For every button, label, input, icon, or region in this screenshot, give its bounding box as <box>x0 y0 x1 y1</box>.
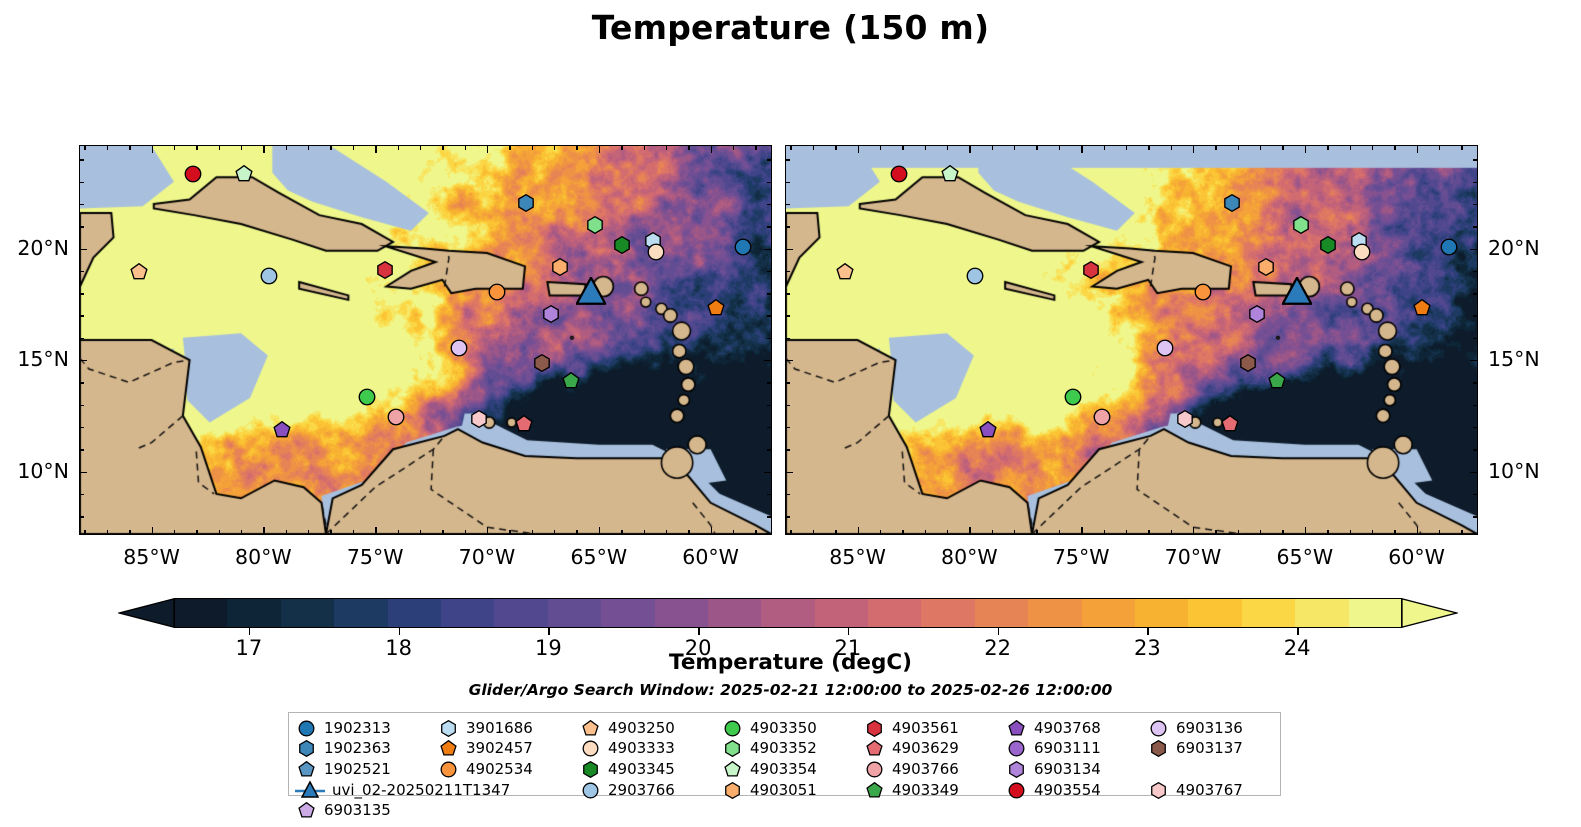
x-axis-tick-label: 65°W <box>1245 545 1365 569</box>
y-axis-tick-label-right: 10°N <box>1488 459 1540 483</box>
argo-float-marker[interactable] <box>358 388 376 406</box>
legend-label: 4902534 <box>466 762 533 777</box>
y-tick-minor <box>786 427 790 428</box>
argo-float-marker[interactable] <box>734 238 752 256</box>
x-tick-minor <box>790 530 791 534</box>
y-tick-minor <box>80 159 84 160</box>
x-tick-minor <box>1439 530 1440 534</box>
argo-float-marker[interactable] <box>1176 410 1194 428</box>
y-tick-minor <box>1473 494 1477 495</box>
y-tick-major <box>786 249 793 250</box>
legend-marker-swatch <box>863 780 885 800</box>
colorbar-tick <box>399 628 400 635</box>
legend-marker-swatch <box>437 718 459 738</box>
x-tick-minor-top <box>107 146 108 150</box>
x-tick-minor <box>509 530 510 534</box>
x-axis-tick-label: 75°W <box>1021 545 1141 569</box>
argo-float-marker[interactable] <box>470 410 488 428</box>
argo-float-marker[interactable] <box>450 339 468 357</box>
legend-label: 6903136 <box>1176 721 1243 736</box>
colorbar: 1718192021222324 <box>118 598 1458 628</box>
y-tick-minor <box>1473 427 1477 428</box>
x-tick-minor-top <box>353 146 354 150</box>
y-tick-minor <box>80 382 84 383</box>
legend-item[interactable]: 4903354 <box>721 759 863 780</box>
argo-float-marker[interactable] <box>273 421 291 439</box>
legend-label: 6903111 <box>1034 741 1101 756</box>
temperature-raster <box>786 146 1477 534</box>
legend-item[interactable]: 6903137 <box>1147 739 1289 760</box>
legend-label: 6903135 <box>324 803 391 818</box>
x-tick-minor <box>1350 530 1351 534</box>
y-tick-minor <box>767 516 771 517</box>
legend-item[interactable]: 4903345 <box>579 759 721 780</box>
x-axis-tick-label: 65°W <box>539 545 659 569</box>
x-tick-minor-top <box>1260 146 1261 150</box>
x-tick-minor <box>1059 530 1060 534</box>
y-tick-minor <box>767 182 771 183</box>
argo-float-marker[interactable] <box>979 421 997 439</box>
legend-item[interactable]: 4903768 <box>1005 718 1147 739</box>
legend-label: 1902313 <box>324 721 391 736</box>
x-tick-minor <box>1394 530 1395 534</box>
x-tick-major-top <box>1417 146 1418 153</box>
figure-title: Temperature (150 m) <box>0 8 1581 47</box>
argo-float-marker[interactable] <box>1257 258 1275 276</box>
y-tick-minor <box>80 182 84 183</box>
y-tick-minor <box>786 204 790 205</box>
legend-label: 4903768 <box>1034 721 1101 736</box>
colorbar-tick <box>698 628 699 635</box>
argo-float-marker[interactable] <box>235 165 253 183</box>
x-tick-minor-top <box>1215 146 1216 150</box>
x-tick-minor-top <box>1036 146 1037 150</box>
glider-marker[interactable] <box>576 277 606 307</box>
legend-label: 6903137 <box>1176 741 1243 756</box>
y-tick-minor <box>80 449 84 450</box>
argo-float-marker[interactable] <box>1413 299 1431 317</box>
x-tick-minor <box>1148 530 1149 534</box>
x-axis-tick-label: 60°W <box>1357 545 1477 569</box>
x-tick-minor-top <box>554 146 555 150</box>
legend-item[interactable]: 1902521 <box>295 759 437 780</box>
x-tick-major-top <box>375 146 376 153</box>
x-tick-minor-top <box>196 146 197 150</box>
temperature-field-rtofs <box>80 146 771 534</box>
y-tick-minor <box>767 338 771 339</box>
argo-float-marker[interactable] <box>1221 415 1239 433</box>
argo-float-marker[interactable] <box>562 372 580 390</box>
legend-label: 6903134 <box>1034 762 1101 777</box>
legend-item[interactable]: 3902457 <box>437 739 579 760</box>
y-tick-major <box>80 360 87 361</box>
y-tick-minor <box>1473 182 1477 183</box>
legend-item[interactable]: 6903134 <box>1005 759 1147 780</box>
x-tick-major-top <box>263 146 264 153</box>
x-tick-minor-top <box>1461 146 1462 150</box>
legend-item[interactable]: 4903561 <box>863 718 1005 739</box>
argo-float-marker[interactable] <box>1239 354 1257 372</box>
x-tick-minor <box>621 530 622 534</box>
x-tick-minor <box>644 530 645 534</box>
y-tick-minor <box>80 494 84 495</box>
argo-float-marker[interactable] <box>551 258 569 276</box>
argo-float-marker[interactable] <box>836 263 854 281</box>
argo-float-marker[interactable] <box>1093 408 1111 426</box>
x-tick-minor <box>219 530 220 534</box>
legend-label: uvi_02-20250211T1347 <box>332 783 510 798</box>
y-tick-major <box>1470 360 1477 361</box>
argo-float-marker[interactable] <box>890 165 908 183</box>
legend-marker-swatch <box>1005 759 1027 779</box>
legend-label: 1902363 <box>324 741 391 756</box>
legend-marker-swatch <box>295 759 317 779</box>
y-tick-minor <box>1473 226 1477 227</box>
argo-float-marker[interactable] <box>1194 283 1212 301</box>
x-tick-minor <box>835 530 836 534</box>
x-tick-minor <box>1282 530 1283 534</box>
y-tick-minor <box>767 405 771 406</box>
x-tick-minor <box>84 530 85 534</box>
y-tick-minor <box>1473 449 1477 450</box>
x-axis-tick-label: 75°W <box>315 545 435 569</box>
glider-marker[interactable] <box>1282 277 1312 307</box>
y-tick-minor <box>1473 204 1477 205</box>
x-tick-minor <box>398 530 399 534</box>
x-tick-minor <box>1238 530 1239 534</box>
legend-item[interactable]: 4903554 <box>1005 780 1147 801</box>
y-tick-minor <box>786 516 790 517</box>
y-tick-minor <box>786 494 790 495</box>
x-tick-minor-top <box>880 146 881 150</box>
legend-marker-swatch <box>1005 718 1027 738</box>
x-tick-minor <box>1260 530 1261 534</box>
x-tick-major <box>858 527 859 534</box>
y-tick-minor <box>786 226 790 227</box>
x-tick-minor-top <box>1439 146 1440 150</box>
x-tick-minor <box>688 530 689 534</box>
legend-item[interactable]: 4902534 <box>437 759 579 780</box>
x-tick-major <box>375 527 376 534</box>
x-tick-minor-top <box>666 146 667 150</box>
x-axis-tick-label: 70°W <box>1133 545 1253 569</box>
argo-float-marker[interactable] <box>517 194 535 212</box>
x-tick-minor <box>353 530 354 534</box>
legend-label: 4903766 <box>892 762 959 777</box>
y-tick-minor <box>786 338 790 339</box>
platform-legend[interactable]: 1902313390168649032504903350490356149037… <box>288 712 1281 796</box>
colorbar-tick <box>998 628 999 635</box>
x-tick-minor <box>880 530 881 534</box>
colorbar-extend-min <box>118 598 174 628</box>
argo-float-marker[interactable] <box>1268 372 1286 390</box>
y-axis-tick-label-right: 15°N <box>1488 347 1540 371</box>
legend-item[interactable]: 4903333 <box>579 739 721 760</box>
argo-float-marker[interactable] <box>542 305 560 323</box>
x-tick-minor-top <box>1238 146 1239 150</box>
y-tick-major <box>764 249 771 250</box>
x-tick-minor-top <box>420 146 421 150</box>
y-tick-minor <box>767 226 771 227</box>
y-tick-major <box>764 472 771 473</box>
legend-item[interactable]: 6903135 <box>295 800 437 821</box>
legend-marker-swatch <box>721 739 743 759</box>
x-axis-tick-label: 85°W <box>798 545 918 569</box>
legend-marker-swatch <box>1147 780 1169 800</box>
y-tick-minor <box>786 182 790 183</box>
argo-float-marker[interactable] <box>1064 388 1082 406</box>
argo-float-marker[interactable] <box>1292 216 1310 234</box>
legend-item[interactable]: 6903111 <box>1005 739 1147 760</box>
y-tick-minor <box>767 382 771 383</box>
legend-item[interactable]: 4903350 <box>721 718 863 739</box>
y-tick-minor <box>767 494 771 495</box>
legend-marker-swatch <box>1147 739 1169 759</box>
legend-marker-swatch <box>721 759 743 779</box>
x-tick-major <box>487 527 488 534</box>
x-axis-tick-label: 80°W <box>909 545 1029 569</box>
y-tick-major <box>80 249 87 250</box>
x-tick-major <box>969 527 970 534</box>
legend-item[interactable]: 1902313 <box>295 718 437 739</box>
argo-float-marker[interactable] <box>647 243 665 261</box>
x-tick-major <box>1193 527 1194 534</box>
legend-item[interactable]: 4903629 <box>863 739 1005 760</box>
map-panel-cmems[interactable]: CMEMS - 2025-02-26 12:00:00 <box>785 145 1478 535</box>
legend-label: 3902457 <box>466 741 533 756</box>
colorbar-extend-max <box>1402 598 1458 628</box>
y-tick-minor <box>80 516 84 517</box>
x-tick-minor <box>813 530 814 534</box>
y-tick-minor <box>767 204 771 205</box>
y-tick-minor <box>80 226 84 227</box>
legend-marker-swatch <box>579 759 601 779</box>
argo-float-marker[interactable] <box>586 216 604 234</box>
x-tick-major-top <box>858 146 859 153</box>
x-tick-minor-top <box>84 146 85 150</box>
x-tick-minor <box>420 530 421 534</box>
x-tick-minor-top <box>398 146 399 150</box>
legend-item[interactable]: 4903352 <box>721 739 863 760</box>
argo-float-marker[interactable] <box>130 263 148 281</box>
x-tick-minor-top <box>1148 146 1149 150</box>
legend-label: 4903629 <box>892 741 959 756</box>
y-tick-minor <box>80 315 84 316</box>
x-tick-minor-top <box>1014 146 1015 150</box>
x-tick-minor <box>576 530 577 534</box>
x-tick-minor <box>1372 530 1373 534</box>
legend-marker-swatch <box>721 780 743 800</box>
y-tick-minor <box>1473 293 1477 294</box>
y-tick-minor <box>1473 338 1477 339</box>
y-tick-minor <box>767 293 771 294</box>
argo-float-marker[interactable] <box>533 354 551 372</box>
y-tick-minor <box>80 338 84 339</box>
legend-label: 4903767 <box>1176 783 1243 798</box>
legend-item[interactable]: 6903136 <box>1147 718 1289 739</box>
x-tick-minor-top <box>790 146 791 150</box>
y-tick-major <box>786 360 793 361</box>
legend-marker-swatch <box>863 718 885 738</box>
argo-float-marker[interactable] <box>613 236 631 254</box>
x-tick-minor-top <box>1372 146 1373 150</box>
x-tick-major-top <box>1305 146 1306 153</box>
argo-float-marker[interactable] <box>387 408 405 426</box>
x-tick-minor <box>666 530 667 534</box>
x-tick-minor-top <box>1350 146 1351 150</box>
colorbar-tick <box>1147 628 1148 635</box>
x-tick-minor <box>241 530 242 534</box>
x-tick-minor-top <box>947 146 948 150</box>
argo-float-marker[interactable] <box>515 415 533 433</box>
y-tick-minor <box>80 204 84 205</box>
legend-label: 4903345 <box>608 762 675 777</box>
legend-label: 2903766 <box>608 783 675 798</box>
y-tick-minor <box>786 159 790 160</box>
x-tick-minor-top <box>241 146 242 150</box>
legend-item[interactable]: 4903349 <box>863 780 1005 801</box>
legend-marker-swatch <box>437 739 459 759</box>
x-tick-minor <box>465 530 466 534</box>
x-tick-minor <box>442 530 443 534</box>
legend-marker-swatch <box>579 718 601 738</box>
legend-label: 4903352 <box>750 741 817 756</box>
legend-item[interactable]: 4903767 <box>1147 780 1289 801</box>
legend-marker-swatch <box>295 718 317 738</box>
legend-label: 3901686 <box>466 721 533 736</box>
legend-label: 4903561 <box>892 721 959 736</box>
x-tick-minor <box>1215 530 1216 534</box>
y-tick-minor <box>1473 159 1477 160</box>
x-tick-minor <box>554 530 555 534</box>
x-tick-minor <box>330 530 331 534</box>
x-tick-minor <box>1171 530 1172 534</box>
x-tick-minor <box>902 530 903 534</box>
legend-marker-swatch <box>863 759 885 779</box>
x-tick-minor <box>1126 530 1127 534</box>
legend-label: 4903350 <box>750 721 817 736</box>
argo-float-marker[interactable] <box>1319 236 1337 254</box>
argo-float-marker[interactable] <box>1223 194 1241 212</box>
legend-marker-swatch <box>1005 780 1027 800</box>
legend-marker-swatch <box>437 759 459 779</box>
legend-marker-swatch <box>1005 739 1027 759</box>
x-tick-minor <box>1327 530 1328 534</box>
argo-float-marker[interactable] <box>376 261 394 279</box>
y-tick-minor <box>1473 382 1477 383</box>
argo-float-marker[interactable] <box>1082 261 1100 279</box>
y-tick-major <box>1470 249 1477 250</box>
colorbar-tick <box>848 628 849 635</box>
legend-item[interactable]: 1902363 <box>295 739 437 760</box>
x-tick-minor-top <box>509 146 510 150</box>
x-tick-minor-top <box>442 146 443 150</box>
argo-float-marker[interactable] <box>1156 339 1174 357</box>
x-axis-tick-label: 70°W <box>427 545 547 569</box>
y-tick-minor <box>786 382 790 383</box>
temperature-field-cmems <box>786 146 1477 534</box>
legend-label: 4903250 <box>608 721 675 736</box>
x-tick-minor-top <box>813 146 814 150</box>
x-tick-minor-top <box>902 146 903 150</box>
argo-float-marker[interactable] <box>941 165 959 183</box>
legend-item[interactable]: 4903051 <box>721 780 863 801</box>
argo-float-marker[interactable] <box>707 299 725 317</box>
x-axis-tick-label: 80°W <box>203 545 323 569</box>
legend-item[interactable]: 4903766 <box>863 759 1005 780</box>
argo-float-marker[interactable] <box>1353 243 1371 261</box>
argo-float-marker[interactable] <box>1248 305 1266 323</box>
y-tick-major <box>80 472 87 473</box>
legend-marker-swatch <box>863 739 885 759</box>
legend-marker-swatch <box>721 718 743 738</box>
legend-marker-swatch <box>295 801 317 821</box>
colorbar-label: Temperature (degC) <box>0 650 1581 675</box>
y-tick-minor <box>767 427 771 428</box>
x-tick-minor-top <box>1126 146 1127 150</box>
legend-item[interactable]: 4903250 <box>579 718 721 739</box>
x-tick-minor-top <box>129 146 130 150</box>
y-tick-minor <box>767 315 771 316</box>
argo-float-marker[interactable] <box>488 283 506 301</box>
y-tick-minor <box>786 293 790 294</box>
temperature-raster <box>80 146 771 534</box>
y-axis-tick-label-left: 15°N <box>17 347 69 371</box>
x-tick-minor <box>947 530 948 534</box>
x-tick-major-top <box>711 146 712 153</box>
x-tick-minor <box>755 530 756 534</box>
x-tick-minor <box>107 530 108 534</box>
argo-float-marker[interactable] <box>260 267 278 285</box>
legend-item[interactable]: uvi_02-20250211T1347 <box>295 780 579 801</box>
map-panel-rtofs[interactable]: RTOFS - 2025-02-26 12:00:00 <box>79 145 772 535</box>
legend-marker-swatch <box>579 780 601 800</box>
y-tick-minor <box>767 159 771 160</box>
y-tick-minor <box>80 293 84 294</box>
y-tick-minor <box>786 315 790 316</box>
colorbar-frame <box>174 598 1402 628</box>
legend-marker-swatch <box>1147 718 1169 738</box>
legend-item[interactable]: 3901686 <box>437 718 579 739</box>
y-axis-tick-label-left: 10°N <box>17 459 69 483</box>
x-tick-minor-top <box>1104 146 1105 150</box>
x-tick-major-top <box>1081 146 1082 153</box>
x-tick-major <box>599 527 600 534</box>
legend-label: 4903349 <box>892 783 959 798</box>
x-tick-major <box>1417 527 1418 534</box>
y-axis-tick-label-left: 20°N <box>17 236 69 260</box>
legend-item[interactable]: 2903766 <box>579 780 721 801</box>
x-tick-minor-top <box>174 146 175 150</box>
argo-float-marker[interactable] <box>966 267 984 285</box>
y-tick-minor <box>80 271 84 272</box>
y-tick-minor <box>1473 516 1477 517</box>
y-tick-minor <box>80 405 84 406</box>
x-axis-tick-label: 60°W <box>651 545 771 569</box>
y-tick-minor <box>786 405 790 406</box>
x-tick-minor-top <box>465 146 466 150</box>
x-tick-minor <box>308 530 309 534</box>
legend-glider-handle <box>295 780 325 800</box>
x-tick-minor-top <box>1327 146 1328 150</box>
argo-float-marker[interactable] <box>1440 238 1458 256</box>
x-tick-minor-top <box>286 146 287 150</box>
x-tick-major <box>1305 527 1306 534</box>
argo-float-marker[interactable] <box>184 165 202 183</box>
colorbar-tick <box>1297 628 1298 635</box>
x-tick-major-top <box>487 146 488 153</box>
x-tick-major <box>1081 527 1082 534</box>
